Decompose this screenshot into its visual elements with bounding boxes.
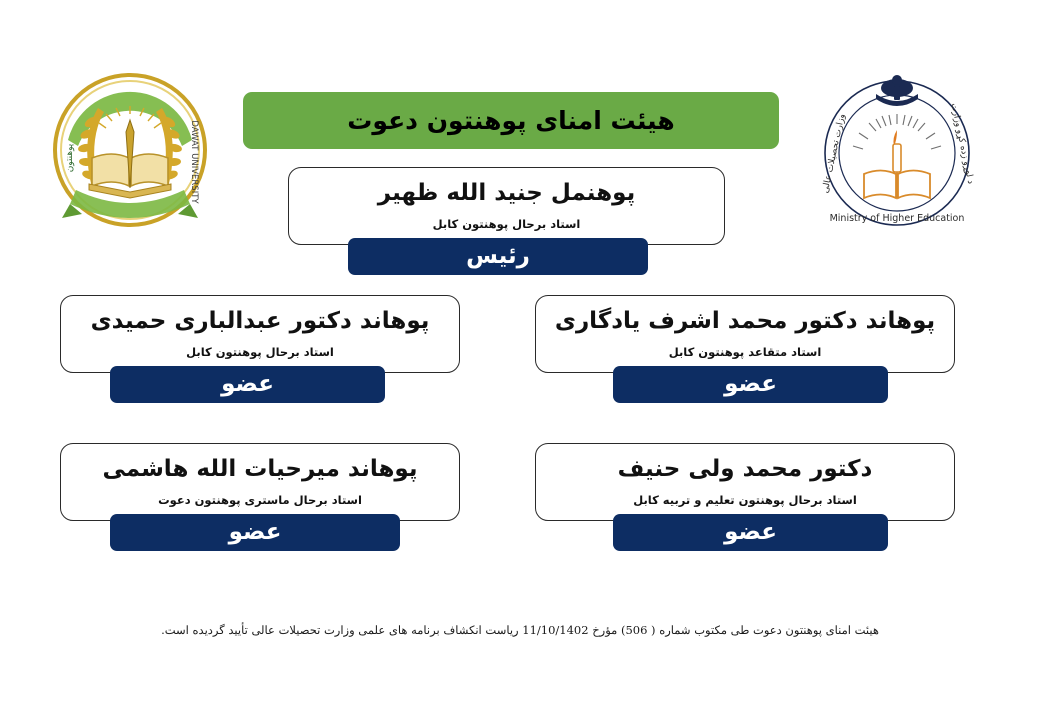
person-name: پوهاند دکتور محمد اشرف یادگاری (536, 308, 954, 334)
person-subtitle: استاد برحال پوهنتون کابل (61, 346, 459, 359)
role-badge-member-2: عضو (110, 366, 385, 403)
svg-text:پوهنتون: پوهنتون (65, 143, 75, 172)
role-badge-member-1: عضو (613, 366, 888, 403)
page-title-banner: هیئت امنای پوهنتون دعوت (243, 92, 779, 149)
person-name: دکتور محمد ولی حنیف (536, 456, 954, 482)
person-name: پوهنمل جنید الله ظهیر (289, 180, 724, 206)
org-chart-page: پوهنتون DAWAT UNIVERSITY (0, 0, 1040, 720)
person-card-member-2: پوهاند دکتور عبدالباری حمیدی استاد برحال… (60, 295, 460, 373)
ministry-of-higher-education-seal-icon: Ministry of Higher Education وزارت تحصیل… (806, 58, 988, 240)
role-label: رئیس (466, 245, 530, 268)
person-subtitle: استاد برحال پوهنتون کابل (289, 218, 724, 231)
role-badge-member-3: عضو (613, 514, 888, 551)
person-card-member-3: دکتور محمد ولی حنیف استاد برحال پوهنتون … (535, 443, 955, 521)
person-subtitle: استاد متقاعد پوهنتون کابل (536, 346, 954, 359)
role-label: عضو (221, 373, 274, 396)
person-subtitle: استاد برحال ماستری پوهنتون دعوت (61, 494, 459, 507)
footer-note: هیئت امنای پوهنتون دعوت طی مکتوب شماره (… (0, 622, 1040, 638)
page-title: هیئت امنای پوهنتون دعوت (347, 108, 674, 133)
role-label: عضو (724, 521, 777, 544)
person-name: پوهاند میرحیات الله هاشمی (61, 456, 459, 482)
dawat-university-seal-icon: پوهنتون DAWAT UNIVERSITY (42, 62, 218, 238)
role-badge-member-4: عضو (110, 514, 400, 551)
role-label: عضو (724, 373, 777, 396)
person-card-member-4: پوهاند میرحیات الله هاشمی استاد برحال ما… (60, 443, 460, 521)
role-label: عضو (229, 521, 282, 544)
svg-text:DAWAT UNIVERSITY: DAWAT UNIVERSITY (189, 120, 199, 204)
person-card-member-1: پوهاند دکتور محمد اشرف یادگاری استاد متق… (535, 295, 955, 373)
svg-text:Ministry of Higher Education: Ministry of Higher Education (830, 213, 965, 224)
person-name: پوهاند دکتور عبدالباری حمیدی (61, 308, 459, 334)
person-card-chairman: پوهنمل جنید الله ظهیر استاد برحال پوهنتو… (288, 167, 725, 245)
role-badge-chairman: رئیس (348, 238, 648, 275)
person-subtitle: استاد برحال پوهنتون تعلیم و تربیه کابل (536, 494, 954, 507)
